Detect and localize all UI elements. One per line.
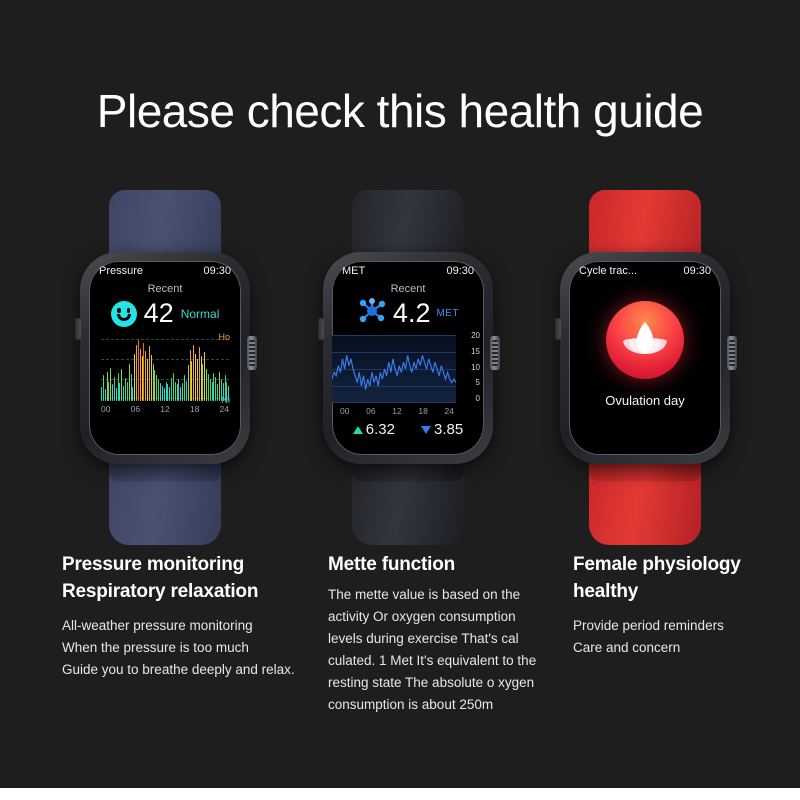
lotus-flower-icon bbox=[622, 321, 668, 360]
screen-cycle-tracking[interactable]: Cycle trac... 09:30 bbox=[569, 261, 721, 455]
caption-met: Mette function The mette value is based … bbox=[328, 552, 543, 716]
caption-heading: Pressure monitoring Respiratory relaxati… bbox=[62, 552, 324, 606]
met-readout: 4.2 MET bbox=[332, 297, 484, 330]
status-bar: Pressure 09:30 bbox=[89, 265, 241, 277]
watch-device-navy: Pressure 09:30 Recent 42 Normal bbox=[77, 190, 253, 535]
crown-icon[interactable] bbox=[247, 336, 257, 370]
page-title: Please check this health guide bbox=[0, 84, 800, 138]
watch-case: Pressure 09:30 Recent 42 Normal bbox=[80, 252, 250, 464]
clock: 09:30 bbox=[446, 265, 474, 277]
poster: Please check this health guide Pre bbox=[0, 0, 800, 788]
pressure-state: Normal bbox=[181, 307, 220, 321]
clock: 09:30 bbox=[203, 265, 231, 277]
watch-card-met: MET 09:30 Recent bbox=[283, 190, 533, 550]
watch-cards: Pressure 09:30 Recent 42 Normal bbox=[0, 190, 800, 550]
watch-device-red: Cycle trac... 09:30 bbox=[557, 190, 733, 535]
watch-card-cycle: Cycle trac... 09:30 bbox=[520, 190, 770, 550]
screen-title: Pressure bbox=[99, 265, 143, 277]
caption-female-health: Female physiology healthy Provide period… bbox=[573, 552, 778, 659]
crown-icon[interactable] bbox=[490, 336, 500, 370]
caption-pressure: Pressure monitoring Respiratory relaxati… bbox=[62, 552, 324, 681]
axis-label-high: Ho bbox=[218, 332, 230, 342]
y-axis-ticks: 20151050 bbox=[458, 331, 480, 403]
x-axis-ticks: 0006121824 bbox=[340, 406, 454, 416]
screen-pressure[interactable]: Pressure 09:30 Recent 42 Normal bbox=[89, 261, 241, 455]
screen-subtitle: Recent bbox=[332, 283, 484, 295]
cycle-status: Ovulation day bbox=[569, 393, 721, 408]
met-max: 6.32 bbox=[353, 421, 395, 438]
pressure-bar-chart: Ho Ni bbox=[101, 337, 229, 401]
bar-series bbox=[101, 337, 229, 401]
watch-bezel: Cycle trac... 09:30 bbox=[569, 261, 721, 455]
x-axis-ticks: 0006121824 bbox=[101, 404, 229, 414]
molecule-icon bbox=[357, 297, 387, 330]
caption-body: Provide period reminders Care and concer… bbox=[573, 615, 778, 659]
bottom-strip bbox=[0, 788, 800, 800]
met-line-chart: 20151050 bbox=[332, 335, 484, 403]
status-bar: MET 09:30 bbox=[332, 265, 484, 277]
screen-met[interactable]: MET 09:30 Recent bbox=[332, 261, 484, 455]
caption-body: The mette value is based on the activity… bbox=[328, 584, 543, 716]
side-button[interactable] bbox=[318, 318, 324, 340]
screen-title: MET bbox=[342, 265, 365, 277]
cycle-orb bbox=[606, 301, 684, 379]
watch-bezel: Pressure 09:30 Recent 42 Normal bbox=[89, 261, 241, 455]
watch-card-pressure: Pressure 09:30 Recent 42 Normal bbox=[40, 190, 290, 550]
met-value: 4.2 bbox=[393, 300, 431, 327]
caption-body: All-weather pressure monitoring When the… bbox=[62, 615, 324, 681]
pressure-value: 42 bbox=[144, 300, 174, 327]
met-min: 3.85 bbox=[421, 421, 463, 438]
side-button[interactable] bbox=[555, 318, 561, 340]
clock: 09:30 bbox=[683, 265, 711, 277]
smiley-face-icon bbox=[111, 301, 137, 327]
watch-device-black: MET 09:30 Recent bbox=[320, 190, 496, 535]
status-bar: Cycle trac... 09:30 bbox=[569, 265, 721, 277]
met-minmax: 6.32 3.85 bbox=[332, 421, 484, 438]
caption-heading: Mette function bbox=[328, 552, 543, 579]
watch-case: Cycle trac... 09:30 bbox=[560, 252, 730, 464]
crown-icon[interactable] bbox=[727, 336, 737, 370]
caption-heading: Female physiology healthy bbox=[573, 552, 778, 606]
pressure-readout: 42 Normal bbox=[89, 300, 241, 327]
chart-plot-area bbox=[332, 335, 456, 403]
watch-case: MET 09:30 Recent bbox=[323, 252, 493, 464]
screen-title: Cycle trac... bbox=[579, 265, 637, 277]
met-unit: MET bbox=[436, 308, 459, 319]
side-button[interactable] bbox=[75, 318, 81, 340]
watch-bezel: MET 09:30 Recent bbox=[332, 261, 484, 455]
screen-subtitle: Recent bbox=[89, 283, 241, 295]
